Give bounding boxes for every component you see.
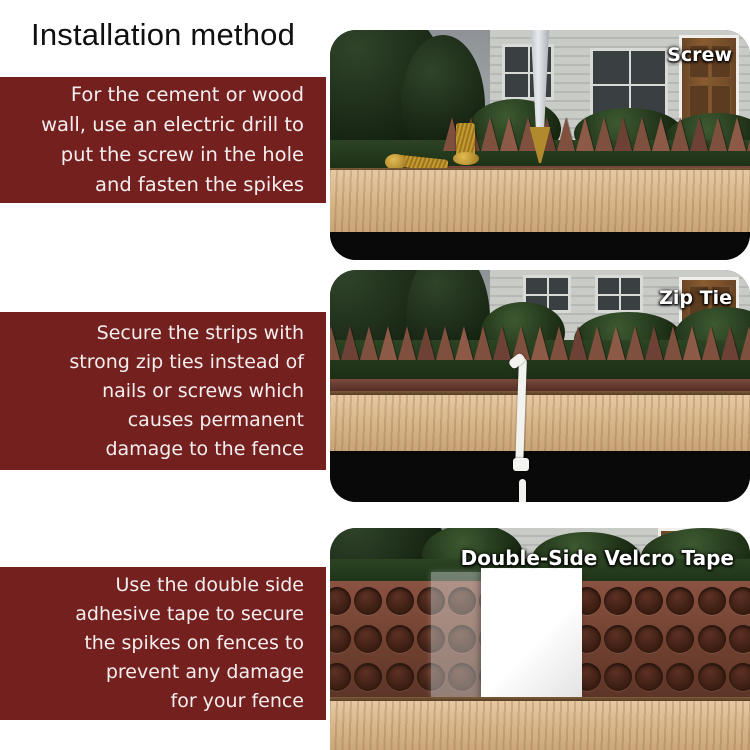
spike (398, 326, 416, 360)
spike (417, 326, 435, 360)
spike (709, 117, 727, 151)
spike (633, 117, 651, 151)
spike (500, 117, 518, 151)
panel-label-velcro-tape: Double-Side Velcro Tape (461, 546, 734, 570)
spike (607, 326, 625, 360)
spike-row (330, 326, 750, 360)
photo-panel-screw: Screw (330, 30, 750, 260)
recess-hole (729, 587, 750, 615)
recess-hole (330, 587, 351, 615)
infographic-page: Installation method For the cement or wo… (0, 0, 750, 750)
photo-scene-screw: Screw (330, 30, 750, 260)
spike (481, 117, 499, 151)
caption-line: for your fence (171, 687, 304, 716)
zip-tie-head (513, 458, 529, 471)
spike (683, 326, 701, 360)
caption-bar-zip-tie: Secure the strips with strong zip ties i… (0, 312, 326, 470)
caption-bar-velcro-tape: Use the double side adhesive tape to sec… (0, 567, 326, 720)
wood-board (330, 170, 750, 232)
recess-hole (354, 587, 382, 615)
recess-hole (635, 625, 663, 653)
recess-hole (729, 663, 750, 691)
shadow-below-board (330, 232, 750, 260)
spike (341, 326, 359, 360)
shadow-below-board (330, 451, 750, 502)
recess-hole (666, 625, 694, 653)
caption-line: strong zip ties instead of (69, 348, 304, 377)
recess-hole (729, 625, 750, 653)
spike (588, 326, 606, 360)
spike (455, 326, 473, 360)
caption-line: Secure the strips with (97, 319, 304, 348)
spike (474, 326, 492, 360)
recess-hole (354, 663, 382, 691)
caption-line: and fasten the spikes (95, 170, 304, 200)
recess-hole (604, 587, 632, 615)
caption-bar-screw: For the cement or wood wall, use an elec… (0, 77, 326, 203)
recess-hole (386, 625, 414, 653)
house-window (595, 275, 643, 313)
spike (493, 326, 511, 360)
photo-panel-velcro-tape: Double-Side Velcro Tape (330, 528, 750, 750)
spike (436, 326, 454, 360)
double-side-tape (481, 568, 582, 697)
caption-line: wall, use an electric drill to (41, 110, 304, 140)
wood-board (330, 395, 750, 451)
photo-scene-velcro-tape: Double-Side Velcro Tape (330, 528, 750, 750)
screw-head (453, 152, 478, 165)
caption-line: put the screw in the hole (61, 140, 304, 170)
spike (671, 117, 689, 151)
spike (379, 326, 397, 360)
recess-hole (386, 663, 414, 691)
caption-line: For the cement or wood (71, 80, 304, 110)
spike (664, 326, 682, 360)
caption-line: nails or screws which (102, 377, 304, 406)
recess-hole (604, 625, 632, 653)
recess-hole (635, 587, 663, 615)
zip-tie-tail (519, 479, 526, 502)
caption-line: causes permanent (128, 406, 304, 435)
spike (728, 117, 746, 151)
spike (595, 117, 613, 151)
recess-hole (386, 587, 414, 615)
recess-hole (635, 663, 663, 691)
spike (626, 326, 644, 360)
photo-panel-zip-tie: Zip Tie (330, 270, 750, 502)
recess-hole (698, 587, 726, 615)
recess-hole (666, 587, 694, 615)
recess-hole (354, 625, 382, 653)
spike (557, 117, 575, 151)
spike (702, 326, 720, 360)
caption-line: Use the double side (116, 571, 304, 600)
spike (360, 326, 378, 360)
recess-hole (666, 663, 694, 691)
spike-row (443, 117, 750, 151)
spike (330, 326, 340, 360)
caption-line: the spikes on fences to (84, 629, 304, 658)
recess-hole (330, 625, 351, 653)
spike (576, 117, 594, 151)
spike (569, 326, 587, 360)
caption-line: damage to the fence (105, 435, 304, 464)
spike (740, 326, 750, 360)
spike (614, 117, 632, 151)
photo-scene-zip-tie: Zip Tie (330, 270, 750, 502)
page-title: Installation method (31, 14, 295, 56)
spike (531, 326, 549, 360)
panel-label-screw: Screw (667, 44, 732, 66)
spike (721, 326, 739, 360)
spike (645, 326, 663, 360)
recess-hole (330, 663, 351, 691)
recess-hole (604, 663, 632, 691)
caption-line: adhesive tape to secure (75, 600, 304, 629)
spike (652, 117, 670, 151)
recess-hole (698, 625, 726, 653)
spike (550, 326, 568, 360)
caption-line: prevent any damage (106, 658, 304, 687)
recess-hole (698, 663, 726, 691)
wood-board (330, 701, 750, 750)
panel-label-zip-tie: Zip Tie (659, 287, 732, 309)
spike (690, 117, 708, 151)
